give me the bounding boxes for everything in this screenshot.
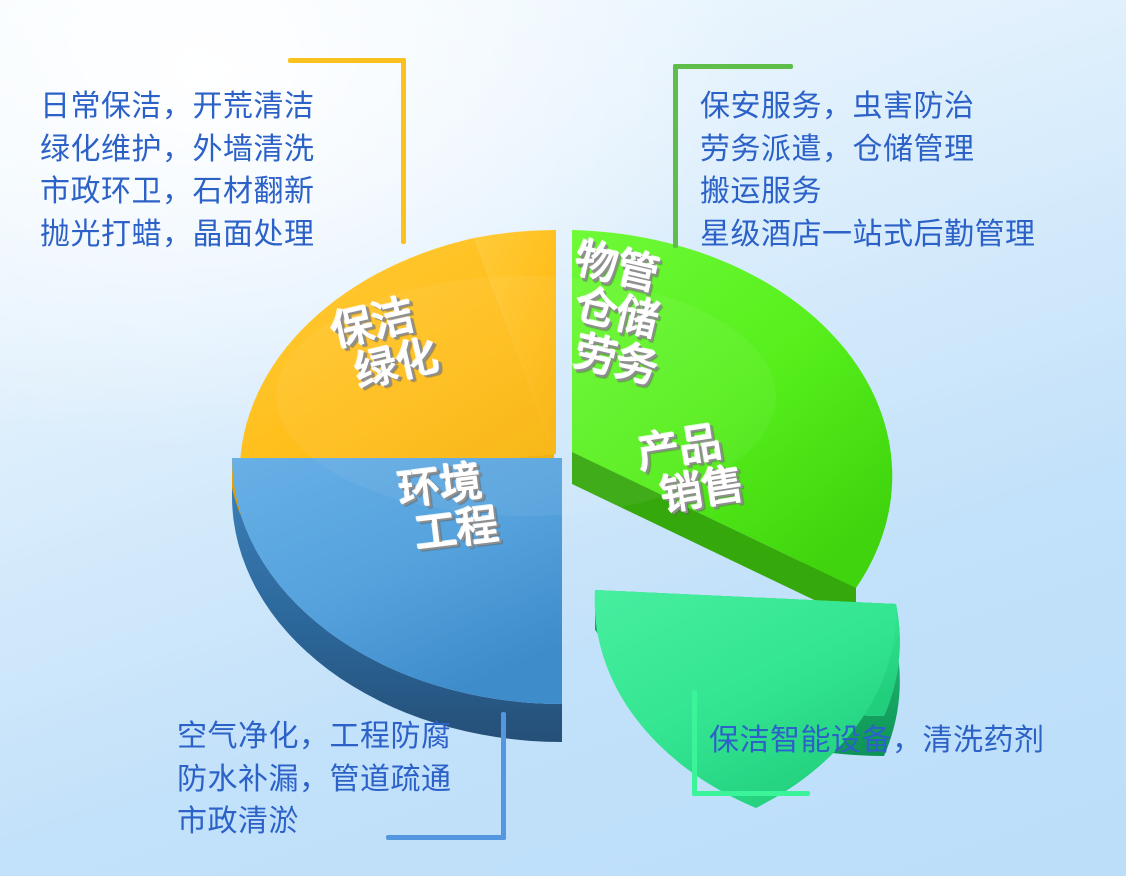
bracket-vertical-segment [501,712,506,840]
callout-line: 保洁智能设备，清洗药剂 [709,720,1045,763]
callout-top-left: 日常保洁，开荒清洁 绿化维护，外墙清洗 市政环卫，石材翻新 抛光打蜡，晶面处理 [40,86,315,256]
bracket-vertical-segment [692,690,697,796]
bracket-horizontal-segment [692,791,810,796]
callout-line: 保安服务，虫害防治 [700,86,1036,129]
bracket-vertical-segment [673,64,678,248]
bracket-vertical-segment [401,58,406,244]
callout-line: 劳务派遣，仓储管理 [700,129,1036,172]
bracket-horizontal-segment [288,58,406,63]
pie-gloss [276,276,776,516]
callout-line: 日常保洁，开荒清洁 [40,86,315,129]
callout-line: 防水补漏，管道疏通 [177,759,452,802]
callout-line: 市政清淤 [177,801,452,844]
callout-line: 空气净化，工程防腐 [177,716,452,759]
callout-bottom-right: 保洁智能设备，清洗药剂 [709,720,1045,763]
callout-top-right: 保安服务，虫害防治 劳务派遣，仓储管理 搬运服务 星级酒店一站式后勤管理 [700,86,1036,256]
infographic-stage: 保洁 绿化 物管 仓储 劳务 产品 销售 环境 工程 日常保洁，开荒清洁 绿化维… [0,0,1126,876]
callout-line: 绿化维护，外墙清洗 [40,129,315,172]
callout-line: 星级酒店一站式后勤管理 [700,214,1036,257]
callout-line: 搬运服务 [700,171,1036,214]
callout-line: 抛光打蜡，晶面处理 [40,214,315,257]
callout-line: 市政环卫，石材翻新 [40,171,315,214]
bracket-horizontal-segment [673,64,793,69]
callout-bottom-left: 空气净化，工程防腐 防水补漏，管道疏通 市政清淤 [177,716,452,844]
pie-chart [196,196,936,724]
